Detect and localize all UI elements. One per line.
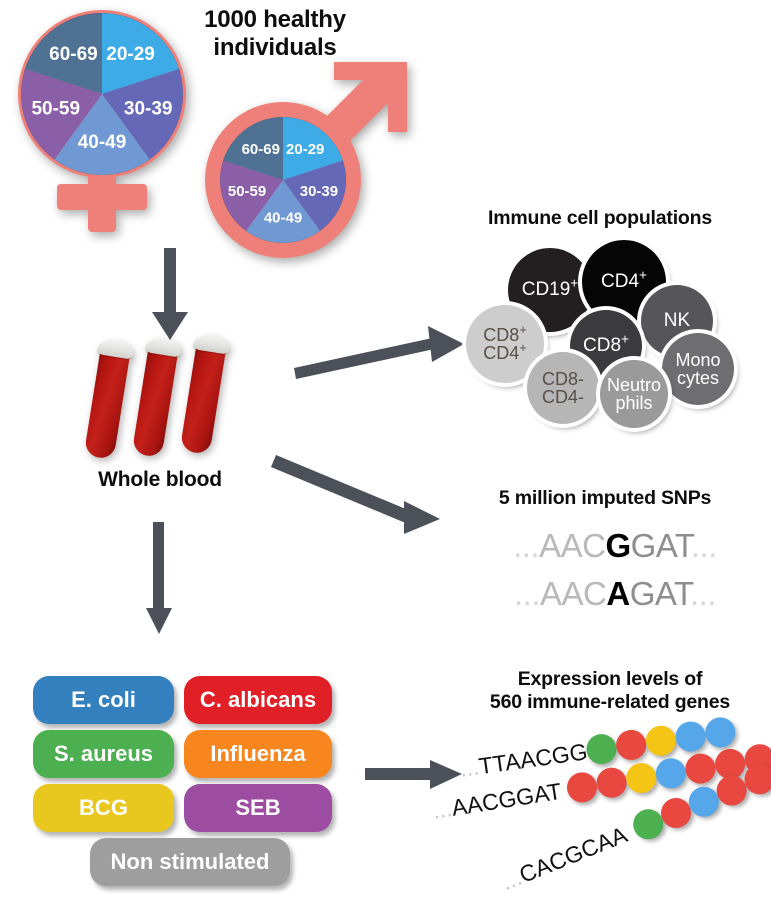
stimulus-label: SEB bbox=[235, 795, 280, 821]
immune-cell-cd8negcd4neg[interactable]: CD8-CD4- bbox=[527, 352, 599, 424]
snp-mid-bases: GAT bbox=[630, 575, 690, 612]
expression-strands-graphic: ...TTAACGG...AACGGAT...CACGCAA bbox=[455, 720, 771, 920]
snp-mid-bases: GAT bbox=[631, 527, 691, 564]
expression-bead bbox=[565, 770, 599, 804]
strand-bases: CACGCAA bbox=[516, 821, 631, 888]
snp-row-allele-1: ...AACGGAT... bbox=[470, 527, 760, 565]
expression-bead bbox=[614, 728, 648, 762]
stimulus-s-aureus[interactable]: S. aureus bbox=[33, 730, 174, 778]
snp-prefix: ... bbox=[514, 575, 540, 612]
immune-cell-neutrophils[interactable]: Neutrophils bbox=[600, 360, 668, 428]
expression-bead bbox=[674, 720, 708, 754]
immune-cell-label: Neutrophils bbox=[607, 376, 661, 413]
stimulus-seb[interactable]: SEB bbox=[184, 784, 332, 832]
expression-bead bbox=[585, 732, 619, 766]
immune-cell-label: CD8+CD4+ bbox=[483, 326, 527, 363]
immune-cell-label: Monocytes bbox=[675, 351, 720, 388]
expression-title-line-2: 560 immune-related genes bbox=[450, 691, 770, 714]
snp-suffix: ... bbox=[690, 575, 716, 612]
immune-cell-label: NK bbox=[664, 311, 690, 330]
snp-variant-base: G bbox=[605, 527, 630, 564]
expression-bead bbox=[654, 756, 688, 790]
snp-prefix: ... bbox=[513, 527, 539, 564]
stimulus-bcg[interactable]: BCG bbox=[33, 784, 174, 832]
stimulus-e-coli[interactable]: E. coli bbox=[33, 676, 174, 724]
snp-suffix: ... bbox=[691, 527, 717, 564]
snp-variant-base: A bbox=[606, 575, 629, 612]
immune-cell-label: CD8-CD4- bbox=[542, 370, 584, 407]
expression-title-line-1: Expression levels of bbox=[450, 668, 770, 691]
stimulus-label: S. aureus bbox=[54, 741, 153, 767]
stimulus-label: E. coli bbox=[71, 687, 136, 713]
snp-sequence-graphic: ...AACGGAT... ...AACAGAT... bbox=[470, 527, 760, 619]
stimulus-non-stimulated[interactable]: Non stimulated bbox=[90, 838, 290, 886]
immune-cell-label: CD19+ bbox=[522, 280, 579, 299]
expression-bead bbox=[594, 766, 628, 800]
immune-cell-monocytes[interactable]: Monocytes bbox=[662, 333, 734, 405]
stimulus-label: Non stimulated bbox=[111, 849, 270, 875]
stimulus-label: BCG bbox=[79, 795, 128, 821]
immune-cell-label: CD4+ bbox=[601, 272, 647, 291]
expression-bead bbox=[624, 761, 658, 795]
strand-sequence: ...CACGCAA bbox=[498, 821, 631, 896]
immune-cell-label: CD8+ bbox=[583, 336, 629, 355]
stimulus-influenza[interactable]: Influenza bbox=[184, 730, 332, 778]
expression-bead bbox=[703, 715, 737, 749]
stimuli-panel: E. coliC. albicansS. aureusInfluenzaBCGS… bbox=[0, 0, 380, 922]
stimulus-label: Influenza bbox=[210, 741, 305, 767]
section-title-snps: 5 million imputed SNPs bbox=[440, 487, 770, 510]
strand-sequence: ...AACGGAT bbox=[431, 778, 564, 825]
stimulus-label: C. albicans bbox=[200, 687, 316, 713]
stimulus-c-albicans[interactable]: C. albicans bbox=[184, 676, 332, 724]
expression-bead bbox=[683, 751, 717, 785]
snp-dim-bases: AAC bbox=[540, 575, 606, 612]
expression-bead bbox=[644, 724, 678, 758]
snp-dim-bases: AAC bbox=[539, 527, 605, 564]
section-title-expression: Expression levels of 560 immune-related … bbox=[450, 668, 770, 713]
snp-row-allele-2: ...AACAGAT... bbox=[470, 575, 760, 613]
